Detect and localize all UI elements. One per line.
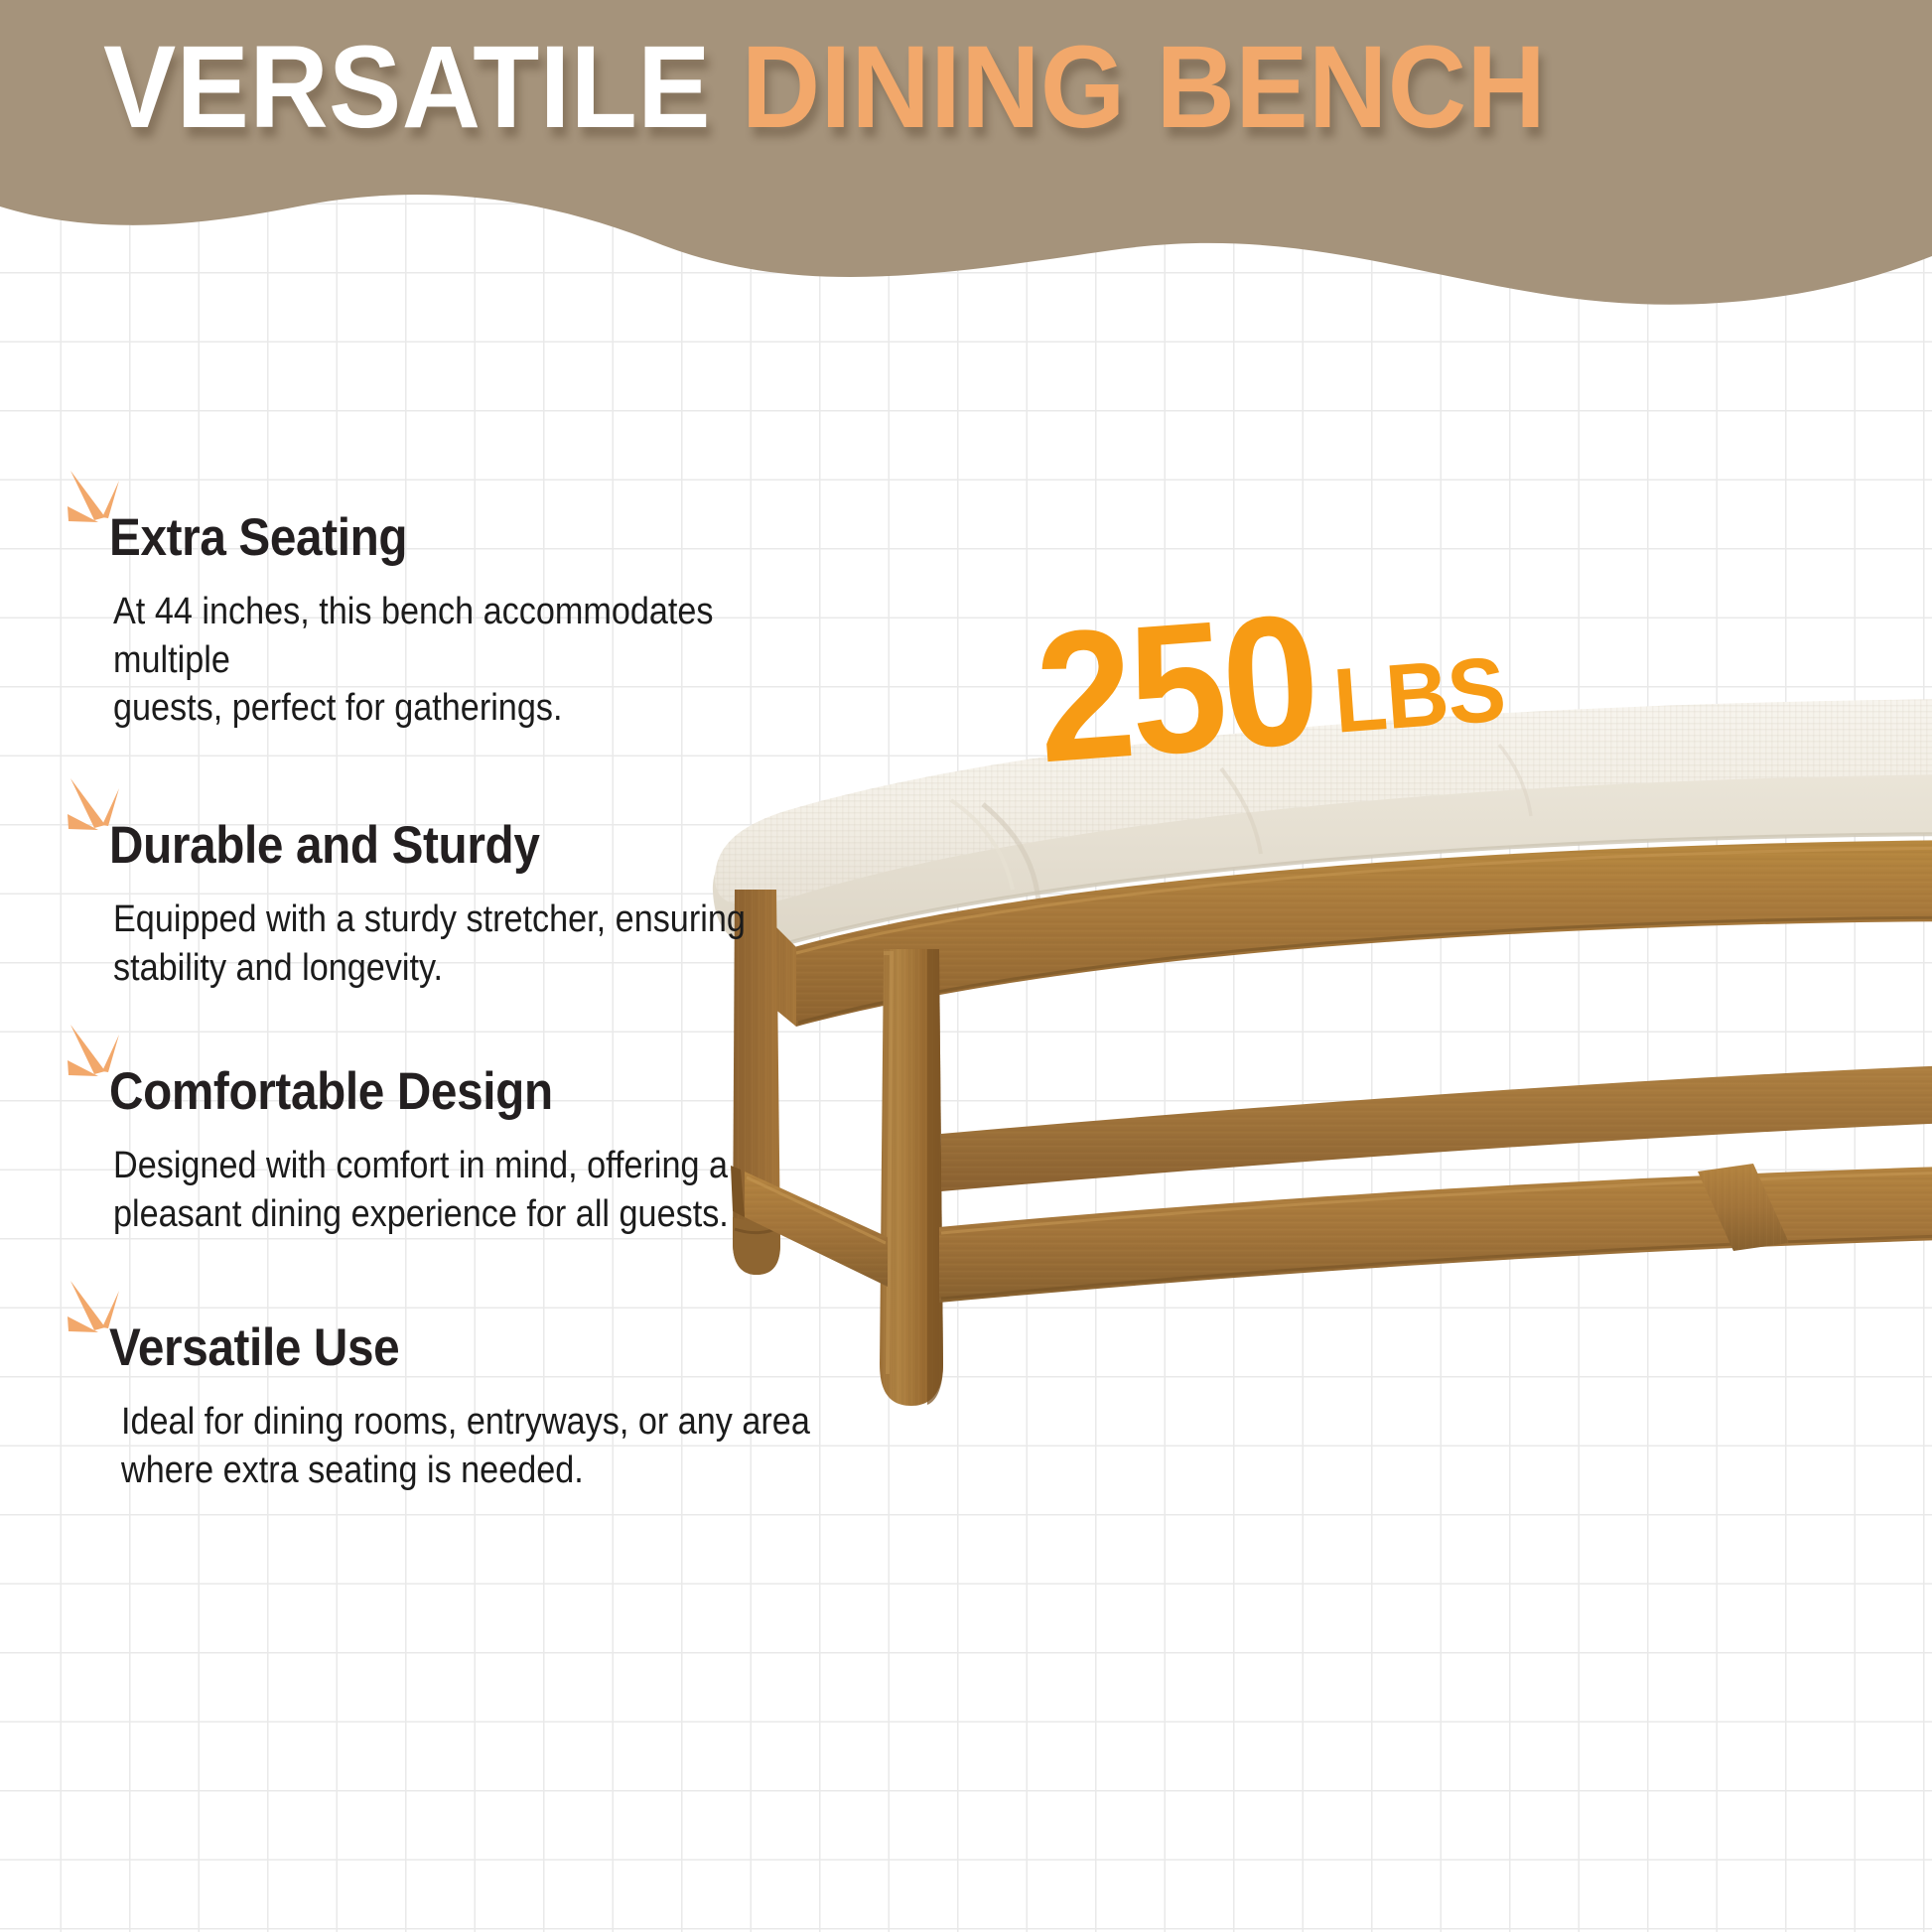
capacity-unit: LBS: [1331, 643, 1508, 747]
feature-title: Extra Seating: [109, 510, 407, 566]
feature-body: Ideal for dining rooms, entryways, or an…: [121, 1398, 836, 1494]
product-image-bench: [685, 655, 1932, 1648]
feature-body: Equipped with a sturdy stretcher, ensuri…: [113, 896, 828, 992]
title-part-white: VERSATILE: [103, 22, 742, 153]
feature-title: Durable and Sturdy: [109, 818, 539, 874]
title-part-accent: DINING BENCH: [742, 22, 1546, 153]
feature-body: At 44 inches, this bench accommodates mu…: [113, 588, 828, 733]
page-title: VERSATILE DINING BENCH: [103, 29, 1765, 146]
infographic-canvas: 250LBS VERSATILE DINING BENCH Extra Seat…: [0, 0, 1932, 1932]
weight-capacity-badge: 250LBS: [1031, 573, 1519, 792]
feature-title: Comfortable Design: [109, 1064, 553, 1120]
capacity-value: 250: [1031, 587, 1321, 791]
feature-title: Versatile Use: [109, 1320, 399, 1376]
feature-body: Designed with comfort in mind, offering …: [113, 1142, 828, 1238]
